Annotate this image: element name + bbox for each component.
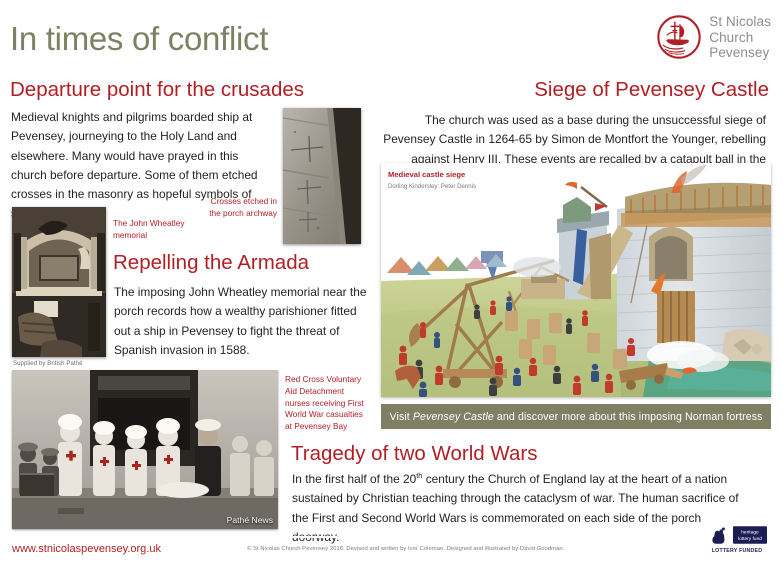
visit-bar-text: Visit Pevensey Castle and discover more … bbox=[390, 411, 763, 423]
visit-bar-emphasis: Pevensey Castle bbox=[413, 411, 494, 423]
website-url[interactable]: www.stnicolaspevensey.org.uk bbox=[12, 543, 161, 555]
photo-etched-crosses bbox=[283, 108, 361, 244]
red-cross-nurses-photo bbox=[12, 370, 278, 529]
heritage-lottery-fund-logo-icon: heritage lottery fund bbox=[733, 526, 767, 544]
illustration-title: Medieval castle siege bbox=[388, 170, 491, 180]
photo-wheatley-memorial bbox=[12, 207, 106, 357]
logo-line-1: St Nicolas bbox=[709, 14, 771, 30]
logo-line-3: Pevensey bbox=[709, 45, 771, 61]
funder-logo-row: heritage lottery fund bbox=[701, 524, 773, 546]
svg-text:heritage: heritage bbox=[741, 530, 759, 536]
john-wheatley-memorial-photo bbox=[12, 207, 106, 357]
etched-crosses-masonry-photo bbox=[283, 108, 361, 244]
illustration-credit: Dorling Kindersley: Peter Dennis bbox=[388, 183, 491, 191]
logo-wordmark: St Nicolas Church Pevensey bbox=[709, 14, 771, 61]
heading-siege: Siege of Pevensey Castle bbox=[534, 79, 769, 102]
church-logo: St Nicolas Church Pevensey bbox=[656, 14, 771, 61]
visit-bar-pre: Visit bbox=[390, 411, 413, 423]
heading-armada: Repelling the Armada bbox=[113, 252, 309, 275]
funder-caption: LOTTERY FUNDED bbox=[701, 548, 773, 554]
crossed-fingers-icon bbox=[708, 524, 730, 546]
body-world-wars-part1: In the first half of the 20 bbox=[292, 472, 416, 486]
visit-bar-post: and discover more about this imposing No… bbox=[494, 411, 763, 423]
caption-red-cross-nurses: Red Cross Voluntary Aid Detachment nurse… bbox=[285, 374, 365, 433]
funder-logo: heritage lottery fund LOTTERY FUNDED bbox=[701, 524, 773, 554]
credit-british-pathe: Supplied by British Pathé bbox=[13, 361, 83, 367]
logo-line-2: Church bbox=[709, 30, 771, 46]
caption-wheatley-memorial: The John Wheatley memorial bbox=[113, 218, 208, 242]
caption-etched-crosses: Crosses etched in the porch archway bbox=[205, 196, 277, 220]
photo-red-cross-nurses: Pathé News bbox=[12, 370, 278, 529]
copyright-line: © St Nicolas Church Pevensey 2018. Devis… bbox=[247, 546, 564, 552]
body-armada: The imposing John Wheatley memorial near… bbox=[114, 283, 376, 360]
illustration-caption-box: Medieval castle siege Dorling Kindersley… bbox=[381, 163, 491, 201]
church-ship-roundel-logo-icon bbox=[656, 14, 702, 60]
watermark-pathe-news: Pathé News bbox=[227, 515, 273, 525]
page-title: In times of conflict bbox=[10, 22, 268, 55]
heading-world-wars: Tragedy of two World Wars bbox=[291, 443, 537, 466]
svg-text:lottery fund: lottery fund bbox=[738, 536, 762, 542]
visit-castle-bar[interactable]: Visit Pevensey Castle and discover more … bbox=[381, 404, 771, 429]
interpretation-panel: In times of conflict St Nicolas Church P… bbox=[0, 0, 783, 578]
footer-divider bbox=[12, 536, 652, 538]
heading-crusades: Departure point for the crusades bbox=[10, 79, 304, 102]
illustration-castle-siege: Medieval castle siege Dorling Kindersley… bbox=[381, 163, 771, 397]
